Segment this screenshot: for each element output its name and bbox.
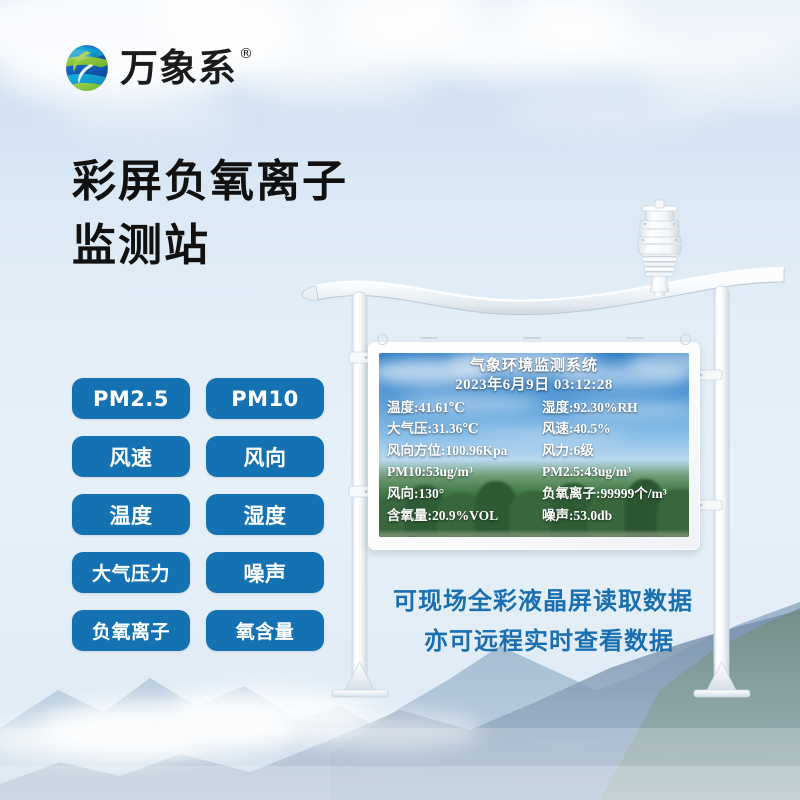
mount-bar-icon [626, 337, 644, 339]
feature-pill-pm25[interactable]: PM2.5 [72, 378, 190, 419]
lcd-reading: 大气压:31.36℃ [387, 419, 532, 440]
lcd-reading: 负氧离子:99999个/m³ [536, 484, 681, 505]
support-pole-icon [696, 286, 729, 688]
pole-base-plate-icon [694, 662, 750, 697]
mount-bar-icon [420, 337, 438, 339]
lcd-readout: 气象环境监测系统 2023年6月9日 03:12:28 温度:41.61℃ 湿度… [379, 353, 689, 537]
feature-pill-winddir[interactable]: 风向 [206, 436, 324, 477]
feature-pill-noise[interactable]: 噪声 [206, 552, 324, 593]
curved-canopy-icon [302, 268, 784, 315]
lcd-reading: PM2.5:43ug/m³ [536, 462, 681, 483]
feature-pill-windspeed[interactable]: 风速 [72, 436, 190, 477]
lcd-datetime: 2023年6月9日 03:12:28 [387, 375, 681, 395]
brand-logo: 万象系 ® [62, 42, 237, 94]
registered-trademark-icon: ® [239, 47, 254, 61]
brand-name: 万象系 [120, 46, 237, 90]
poster-canvas: 气象环境监测系统 2023年6月9日 03:12:28 温度:41.61℃ 湿度… [0, 0, 800, 800]
lcd-reading: 风向:130° [387, 484, 532, 505]
headline-line-1: 彩屏负氧离子 [72, 150, 348, 214]
lcd-reading: 温度:41.61℃ [387, 398, 532, 419]
marketing-caption: 可现场全彩液晶屏读取数据 亦可远程实时查看数据 [388, 582, 698, 661]
caption-line-2: 亦可远程实时查看数据 [388, 622, 698, 662]
feature-pill-pressure[interactable]: 大气压力 [72, 552, 190, 593]
brand-name-wrap: 万象系 ® [120, 49, 237, 87]
lcd-display-unit[interactable]: 气象环境监测系统 2023年6月9日 03:12:28 温度:41.61℃ 湿度… [368, 342, 700, 550]
lcd-reading: 噪声:53.0db [536, 506, 681, 527]
pole-base-plate-icon [332, 662, 388, 697]
feature-pill-oxygen[interactable]: 氧含量 [206, 610, 324, 651]
lcd-reading-grid: 温度:41.61℃ 湿度:92.30%RH 大气压:31.36℃ 风速:40.5… [387, 398, 681, 527]
feature-pill-humidity[interactable]: 湿度 [206, 494, 324, 535]
lcd-reading: 含氧量:20.9%VOL [387, 506, 532, 527]
lcd-title: 气象环境监测系统 [387, 358, 681, 375]
page-title: 彩屏负氧离子 监测站 [72, 150, 348, 278]
feature-pill-anion[interactable]: 负氧离子 [72, 610, 190, 651]
feature-pill-pm10[interactable]: PM10 [206, 378, 324, 419]
mount-ring-icon [377, 334, 388, 345]
globe-swirl-logo-icon [62, 42, 112, 94]
feature-pill-temp[interactable]: 温度 [72, 494, 190, 535]
feature-pill-grid: PM2.5 PM10 风速 风向 温度 湿度 大气压力 噪声 负氧离子 氧含量 [72, 378, 324, 651]
lcd-reading: PM10:53ug/m³ [387, 462, 532, 483]
lcd-reading: 风速:40.5% [536, 419, 681, 440]
caption-line-1: 可现场全彩液晶屏读取数据 [388, 582, 698, 622]
lcd-reading: 风向方位:100.96Kpa [387, 441, 532, 462]
lcd-reading: 湿度:92.30%RH [536, 398, 681, 419]
mount-bar-icon [523, 337, 541, 339]
lcd-reading: 风力:6级 [536, 441, 681, 462]
headline-line-2: 监测站 [72, 214, 348, 278]
mount-ring-icon [680, 334, 691, 345]
lcd-panel: 气象环境监测系统 2023年6月9日 03:12:28 温度:41.61℃ 湿度… [379, 353, 689, 537]
